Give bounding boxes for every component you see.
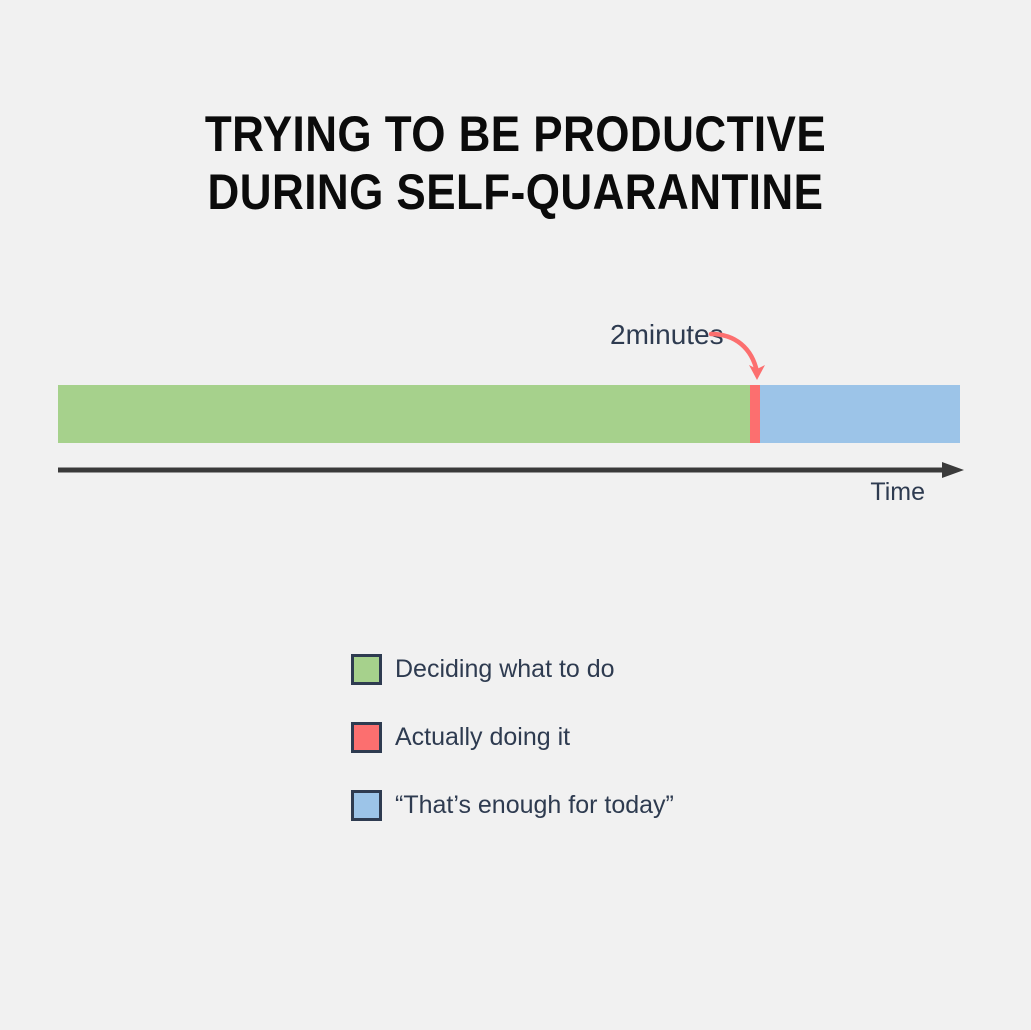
legend-label-enough: “That’s enough for today” (395, 790, 674, 821)
timeline-bar (58, 385, 960, 443)
legend-swatch-blue (351, 790, 382, 821)
legend-label-doing: Actually doing it (395, 722, 570, 753)
legend-item-enough: “That’s enough for today” (351, 790, 674, 821)
bar-segment-enough (760, 385, 960, 443)
annotation-label: 2minutes (610, 320, 724, 350)
arrow-right-icon (942, 462, 964, 478)
legend-swatch-red (351, 722, 382, 753)
legend: Deciding what to do Actually doing it “T… (351, 654, 674, 821)
legend-label-deciding: Deciding what to do (395, 654, 615, 685)
legend-item-doing: Actually doing it (351, 722, 674, 753)
page-title: TRYING TO BE PRODUCTIVE DURING SELF-QUAR… (62, 105, 969, 221)
title-line-1: TRYING TO BE PRODUCTIVE (62, 105, 969, 163)
bar-segment-deciding (58, 385, 750, 443)
chart-canvas: TRYING TO BE PRODUCTIVE DURING SELF-QUAR… (0, 0, 1031, 1030)
legend-swatch-green (351, 654, 382, 685)
bar-segment-doing (750, 385, 760, 443)
legend-item-deciding: Deciding what to do (351, 654, 674, 685)
axis-label-time: Time (760, 478, 925, 506)
title-line-2: DURING SELF-QUARANTINE (62, 163, 969, 221)
